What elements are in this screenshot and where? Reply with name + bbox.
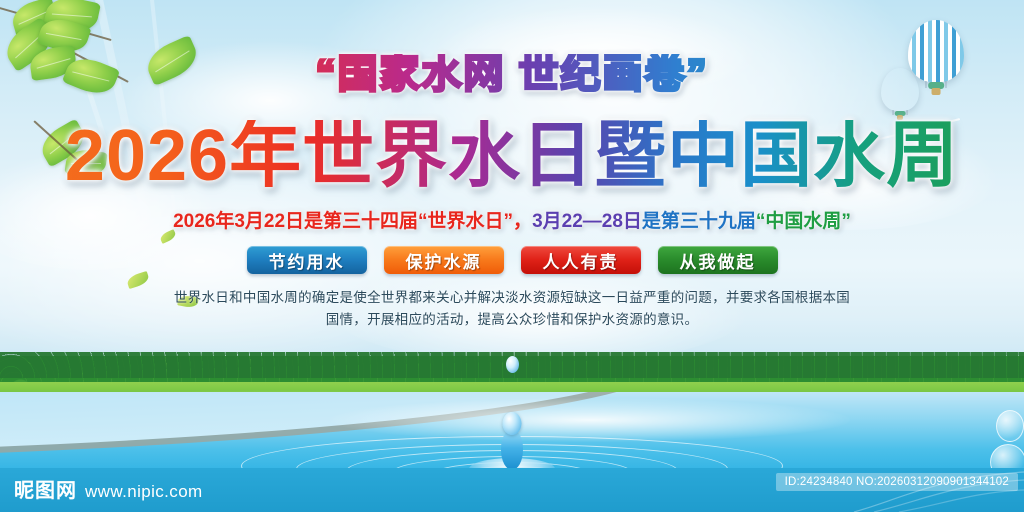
poster-canvas: “国家水网 世纪画卷” 2026年世界水日暨中国水周 2026年3月22日是第三… — [0, 0, 1024, 512]
droplet-column — [501, 430, 523, 470]
water-droplet-small — [506, 356, 519, 373]
slogan-badge-start-with-me[interactable]: 从我做起 — [658, 246, 778, 274]
subtitle-part-d: “中国水周” — [756, 211, 851, 232]
image-id-badge: ID:24234840 NO:20260312090901344102 — [776, 473, 1018, 491]
slogan-badge-everyone-responsible[interactable]: 人人有责 — [521, 246, 641, 274]
subtitle-part-c: 是第三十九届 — [642, 211, 756, 232]
brand-url: www.nipic.com — [85, 482, 203, 502]
subtitle-part-b: 3月22—28日 — [532, 211, 642, 232]
bubble-icon — [996, 410, 1024, 442]
water-sheen — [330, 398, 850, 442]
subtitle-part-a: 2026年3月22日是第三十四届“世界水日” — [173, 211, 513, 232]
slogan-badge-save-water[interactable]: 节约用水 — [247, 246, 367, 274]
slogan-badge-group: 节约用水 保护水源 人人有责 从我做起 — [0, 246, 1024, 274]
page-title: 2026年世界水日暨中国水周 — [0, 120, 1024, 192]
slogan-badge-protect-source[interactable]: 保护水源 — [384, 246, 504, 274]
subtitle-comma: ， — [513, 211, 532, 232]
droplet-head — [503, 412, 522, 435]
description-paragraph: 世界水日和中国水周的确定是使全世界都来关心并解决淡水资源短缺这一日益严重的问题，… — [172, 287, 852, 330]
site-brand[interactable]: 昵图网 www.nipic.com — [14, 474, 203, 503]
brand-name-cn: 昵图网 — [14, 474, 77, 503]
poster-quote: “国家水网 世纪画卷” — [0, 54, 1024, 94]
subtitle-line: 2026年3月22日是第三十四届“世界水日”，3月22—28日是第三十九届“中国… — [0, 211, 1024, 234]
